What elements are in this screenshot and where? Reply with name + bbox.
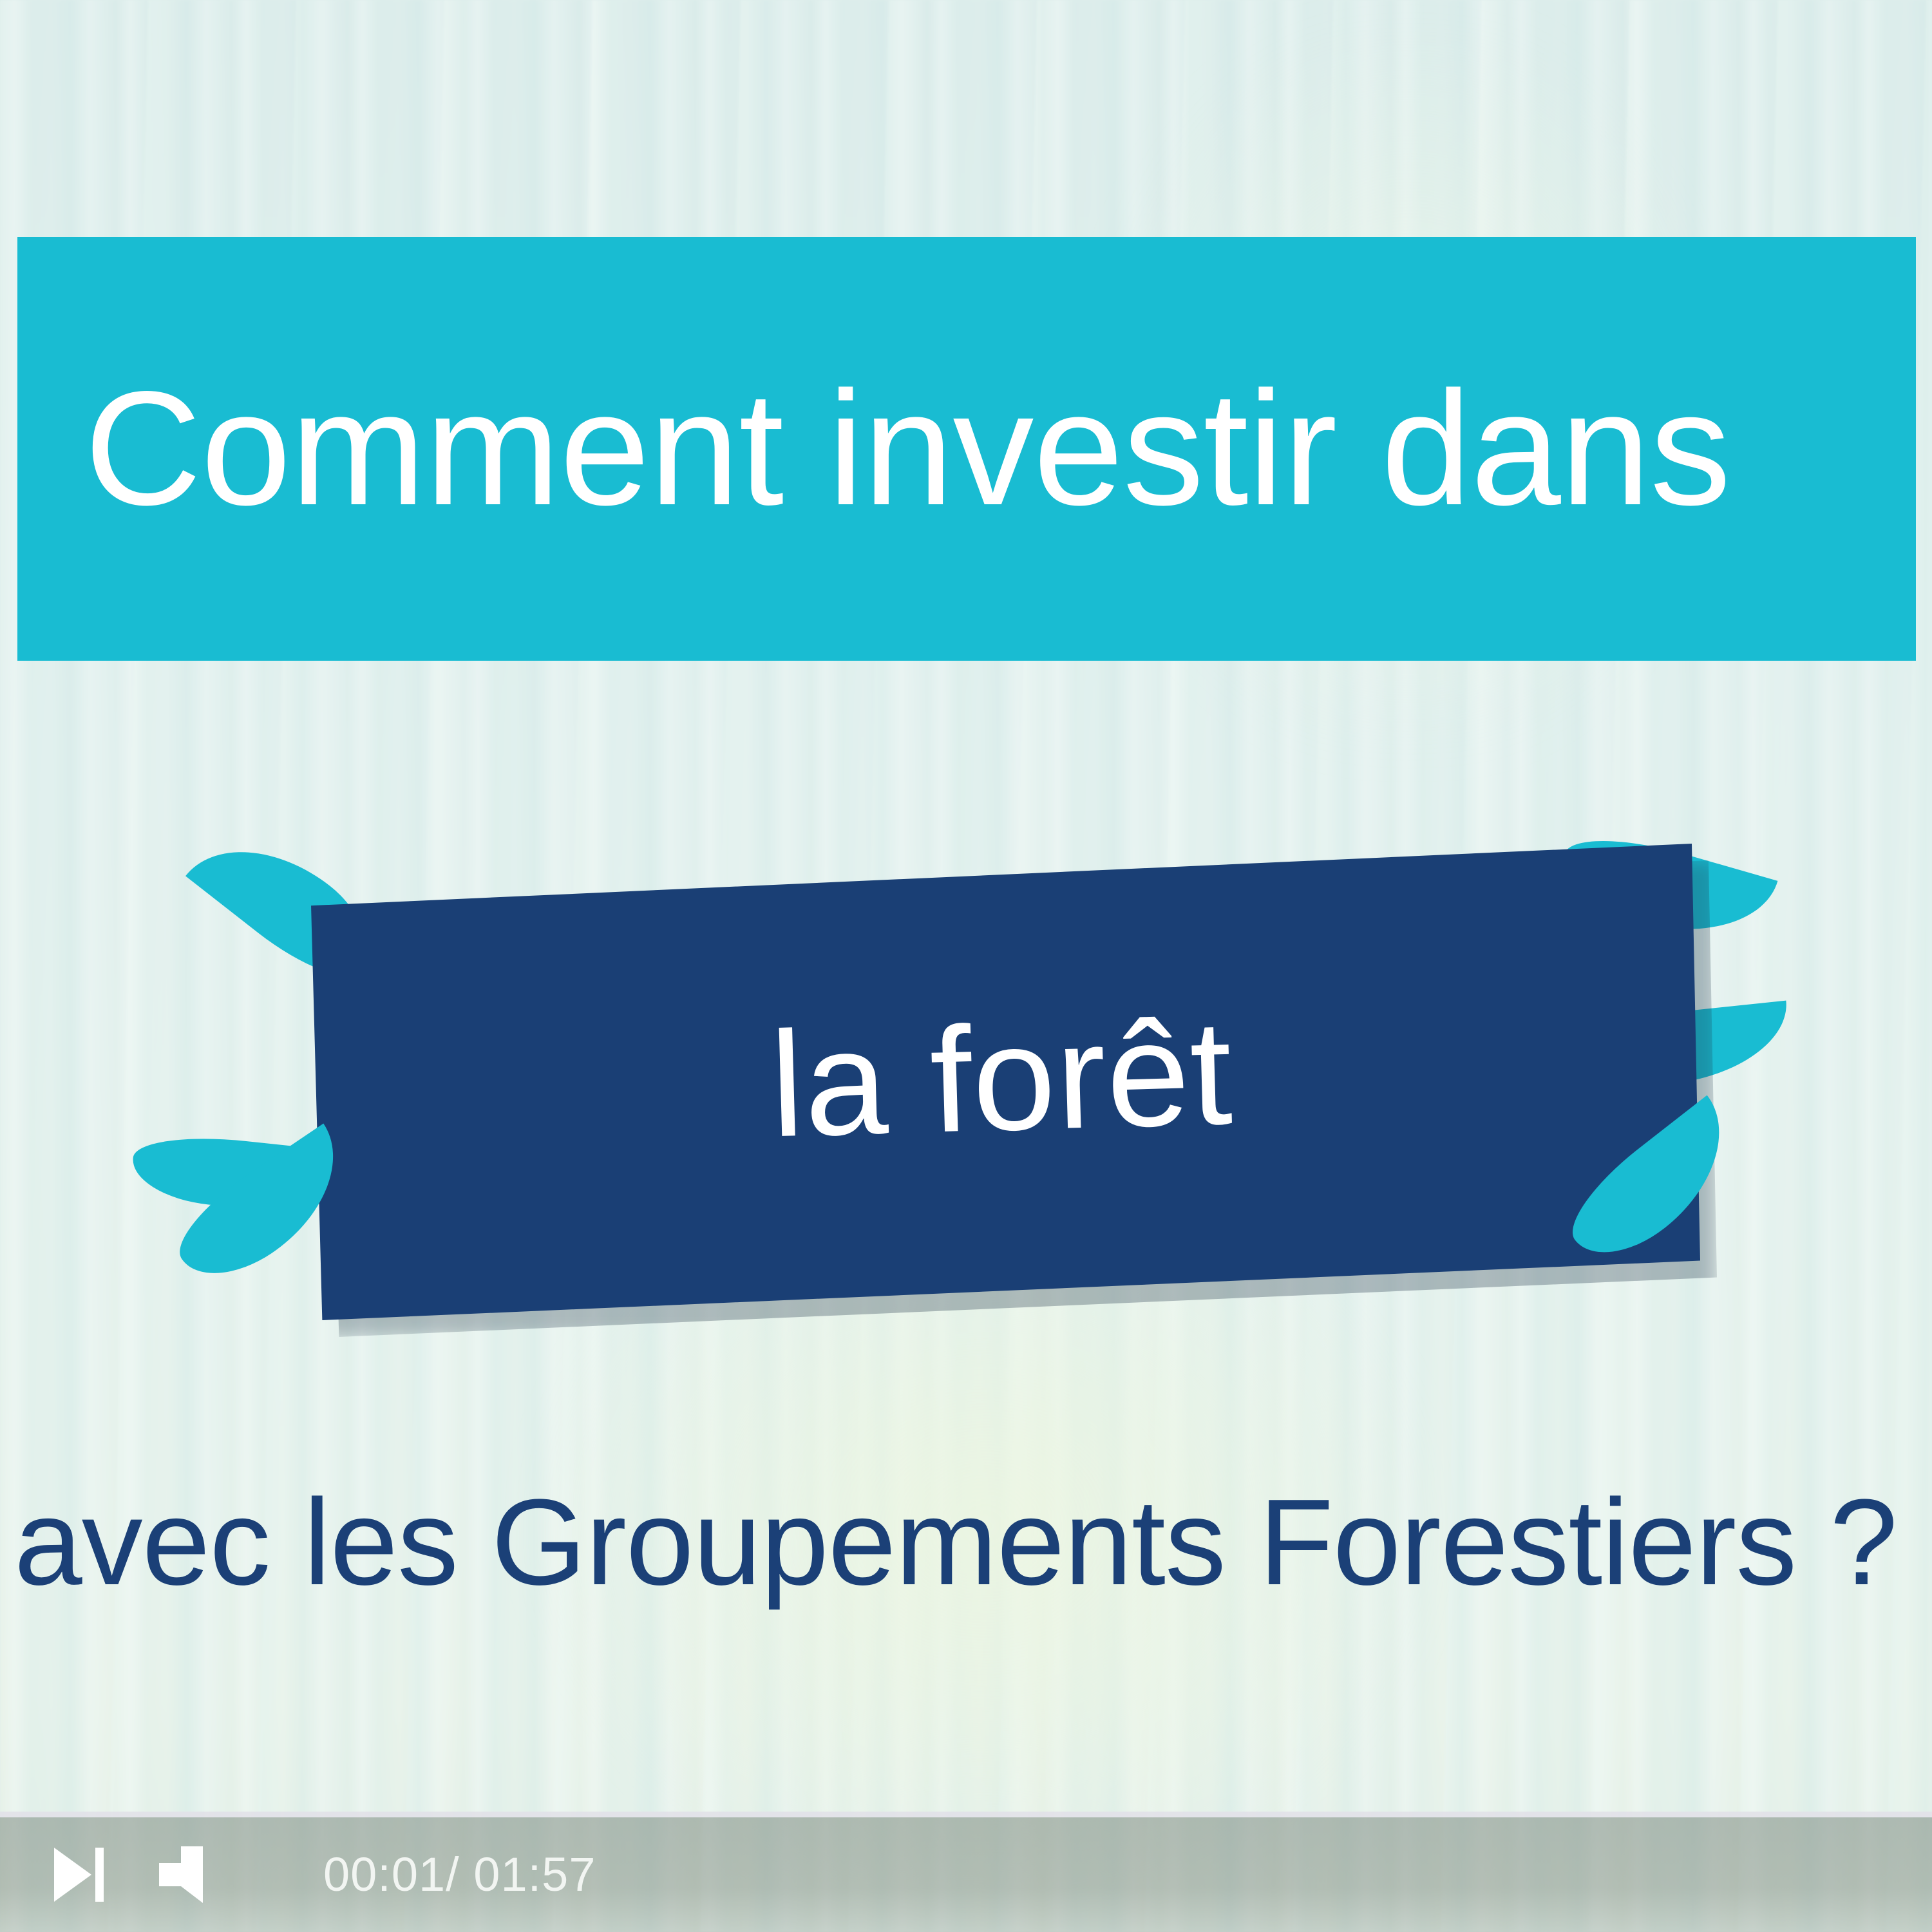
- skip-to-end-button[interactable]: [39, 1839, 116, 1910]
- player-bar-divider: [0, 1812, 1932, 1817]
- video-slide-frame: Comment investir dans la forêt avec les …: [0, 0, 1932, 1932]
- ribbon-shape: la forêt: [303, 844, 1700, 1320]
- player-time-display: 00:01/ 01:57: [323, 1851, 596, 1899]
- volume-icon: [153, 1842, 217, 1907]
- ribbon-text: la forêt: [301, 985, 1702, 1173]
- volume-button[interactable]: [149, 1839, 220, 1910]
- video-player-controls[interactable]: 00:01/ 01:57: [0, 1817, 1932, 1932]
- title-banner-text: Comment investir dans: [84, 368, 1730, 530]
- subtitle-text: avec les Groupements Forestiers ?: [14, 1481, 1932, 1604]
- ribbon-banner: la forêt: [303, 844, 1700, 1320]
- title-banner: Comment investir dans: [17, 237, 1916, 661]
- skip-to-end-icon: [44, 1841, 111, 1908]
